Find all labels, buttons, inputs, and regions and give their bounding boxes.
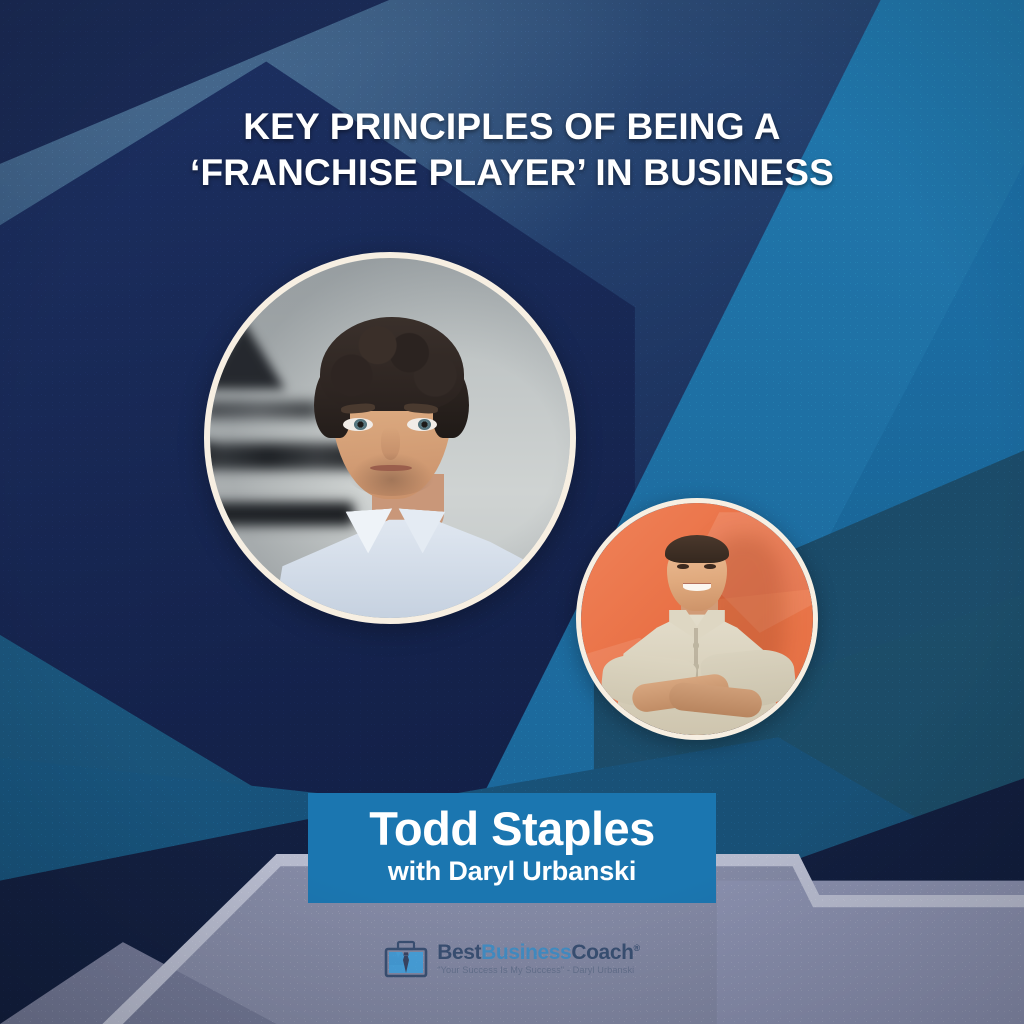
episode-title: KEY PRINCIPLES OF BEING A ‘FRANCHISE PLA… <box>0 104 1024 195</box>
host-shirt-button-1 <box>693 642 699 648</box>
host-portrait <box>576 498 818 740</box>
brand-word-business: Business <box>481 941 571 964</box>
guest-portrait <box>204 252 576 624</box>
host-hair <box>665 535 730 563</box>
host-credit-text: with Daryl Urbanski <box>388 857 636 887</box>
episode-cover-canvas: KEY PRINCIPLES OF BEING A ‘FRANCHISE PLA… <box>0 0 1024 1024</box>
brand-wordmark: BestBusinessCoach® <box>437 942 640 963</box>
registered-trademark-mark: ® <box>634 943 640 953</box>
host-portrait-photo <box>581 503 813 735</box>
episode-title-line-2: ‘FRANCHISE PLAYER’ IN BUSINESS <box>70 150 954 196</box>
host-eye-right <box>704 564 716 569</box>
guest-eye-left <box>343 418 373 431</box>
guest-name-text: Todd Staples <box>369 805 655 852</box>
brand-word-coach: Coach <box>571 941 633 964</box>
guest-eye-right <box>407 418 437 431</box>
guest-figure <box>210 258 570 618</box>
brand-tagline: "Your Success Is My Success" - Daryl Urb… <box>437 966 640 975</box>
host-eye-left <box>677 564 689 569</box>
brand-logo-text: BestBusinessCoach® "Your Success Is My S… <box>437 942 640 975</box>
briefcase-necktie-icon <box>384 940 428 978</box>
guest-hair <box>320 317 464 411</box>
brand-word-best: Best <box>437 941 481 964</box>
guest-name-banner: Todd Staples with Daryl Urbanski <box>308 793 716 903</box>
guest-portrait-photo <box>210 258 570 618</box>
episode-title-line-1: KEY PRINCIPLES OF BEING A <box>70 104 954 150</box>
brand-logo[interactable]: BestBusinessCoach® "Your Success Is My S… <box>0 940 1024 978</box>
